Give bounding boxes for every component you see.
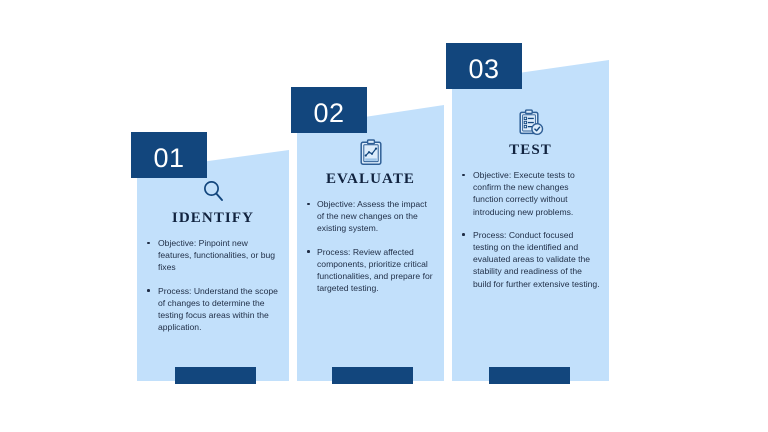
column-base-bar-2 [332, 367, 413, 384]
list-item: Objective: Assess the impact of the new … [306, 198, 435, 235]
step-number-2: 02 [313, 94, 344, 127]
column-content-3: TEST Objective: Execute tests to confirm… [452, 108, 609, 290]
column-base-bar-1 [175, 367, 256, 384]
bullet-list-2: Objective: Assess the impact of the new … [306, 198, 435, 294]
step-badge-01: 01 [131, 132, 207, 178]
step-title-2: EVALUATE [306, 171, 435, 188]
step-badge-03: 03 [446, 43, 522, 89]
step-column-test: TEST Objective: Execute tests to confirm… [452, 60, 609, 381]
column-content-2: EVALUATE Objective: Assess the impact of… [297, 137, 444, 294]
bullet-list-3: Objective: Execute tests to confirm the … [461, 169, 600, 290]
infographic-canvas: IDENTIFY Objective: Pinpoint new feature… [0, 0, 768, 432]
list-item: Process: Understand the scope of changes… [146, 285, 280, 334]
step-number-1: 01 [153, 139, 184, 172]
step-number-3: 03 [468, 50, 499, 83]
step-title-1: IDENTIFY [146, 210, 280, 227]
step-badge-shape-1: 01 [131, 132, 207, 178]
clipboard-check-icon [461, 108, 600, 138]
step-column-identify: IDENTIFY Objective: Pinpoint new feature… [137, 150, 289, 381]
step-badge-02: 02 [291, 87, 367, 133]
magnifier-icon [146, 176, 280, 206]
bullet-list-1: Objective: Pinpoint new features, functi… [146, 237, 280, 333]
list-item: Objective: Execute tests to confirm the … [461, 169, 600, 218]
clipboard-chart-icon [306, 137, 435, 167]
step-badge-shape-2: 02 [291, 87, 367, 133]
list-item: Process: Conduct focused testing on the … [461, 229, 600, 290]
column-content-1: IDENTIFY Objective: Pinpoint new feature… [137, 176, 289, 333]
list-item: Objective: Pinpoint new features, functi… [146, 237, 280, 274]
step-column-evaluate: EVALUATE Objective: Assess the impact of… [297, 105, 444, 381]
list-item: Process: Review affected components, pri… [306, 246, 435, 295]
column-base-bar-3 [489, 367, 570, 384]
step-badge-shape-3: 03 [446, 43, 522, 89]
step-title-3: TEST [461, 142, 600, 159]
